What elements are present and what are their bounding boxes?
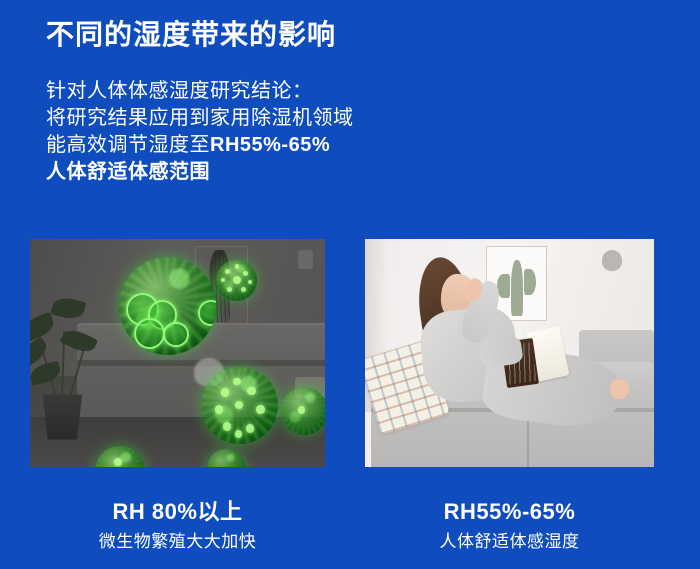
dark-room-scene bbox=[30, 239, 325, 467]
microbe-nub bbox=[223, 422, 231, 431]
intro-line-2: 将研究结果应用到家用除湿机领域 bbox=[46, 105, 466, 132]
photo-high-humidity bbox=[30, 239, 325, 467]
dark-potted-plant bbox=[30, 289, 101, 439]
microbe-sphere-large bbox=[119, 257, 216, 355]
dark-wall-fixture bbox=[298, 250, 313, 268]
woman-reading bbox=[394, 253, 631, 463]
microbe-sphere-bottom-center bbox=[207, 449, 245, 467]
intro-line-3-text: 能高效调节湿度至 bbox=[46, 134, 210, 156]
intro-line-3: 能高效调节湿度至RH55%-65% bbox=[46, 132, 466, 159]
microbe-nub bbox=[114, 458, 122, 466]
woman-foot bbox=[610, 379, 629, 400]
page-title: 不同的湿度带来的影响 bbox=[46, 18, 336, 52]
dark-plant-pot bbox=[41, 394, 84, 439]
photo-comfort-humidity bbox=[365, 239, 654, 467]
caption-high-humidity-main: RH 80%以上 bbox=[30, 498, 325, 526]
caption-high-humidity-sub: 微生物繁殖大大加快 bbox=[30, 529, 325, 554]
microbe-sphere-bottom-left bbox=[95, 446, 145, 467]
microbe-nub bbox=[243, 271, 248, 276]
microbe-nub bbox=[227, 287, 232, 292]
microbe-cell-ring bbox=[163, 322, 188, 347]
plant-leaf bbox=[51, 295, 87, 322]
caption-high-humidity: RH 80%以上 微生物繁殖大大加快 bbox=[30, 498, 325, 554]
intro-line-3-highlight: RH55%-65% bbox=[210, 134, 330, 156]
microbe-nub bbox=[233, 378, 241, 386]
intro-line-1: 针对人体体感湿度研究结论： bbox=[46, 78, 466, 105]
intro-paragraph: 针对人体体感湿度研究结论： 将研究结果应用到家用除湿机领域 能高效调节湿度至RH… bbox=[46, 78, 466, 186]
microbe-nub bbox=[247, 387, 255, 396]
microbe-sphere-small-top bbox=[216, 260, 257, 301]
caption-comfort-humidity: RH55%-65% 人体舒适体感湿度 bbox=[365, 498, 654, 554]
microbe-nub bbox=[246, 424, 254, 433]
microbe-nub bbox=[235, 264, 239, 268]
poster-canvas: 不同的湿度带来的影响 针对人体体感湿度研究结论： 将研究结果应用到家用除湿机领域… bbox=[0, 0, 700, 569]
light-room-scene bbox=[365, 239, 654, 467]
caption-comfort-humidity-main: RH55%-65% bbox=[365, 498, 654, 526]
plant-leaf bbox=[30, 361, 62, 386]
microbe-cell-ring bbox=[198, 300, 216, 325]
intro-line-4: 人体舒适体感范围 bbox=[46, 159, 466, 186]
microbe-sphere-front bbox=[201, 367, 278, 445]
caption-comfort-humidity-sub: 人体舒适体感湿度 bbox=[365, 529, 654, 554]
microbe-nub bbox=[256, 405, 264, 414]
microbe-sphere-right-edge bbox=[281, 387, 325, 435]
plant-leaf bbox=[30, 312, 57, 342]
microbe-texture bbox=[207, 449, 245, 467]
